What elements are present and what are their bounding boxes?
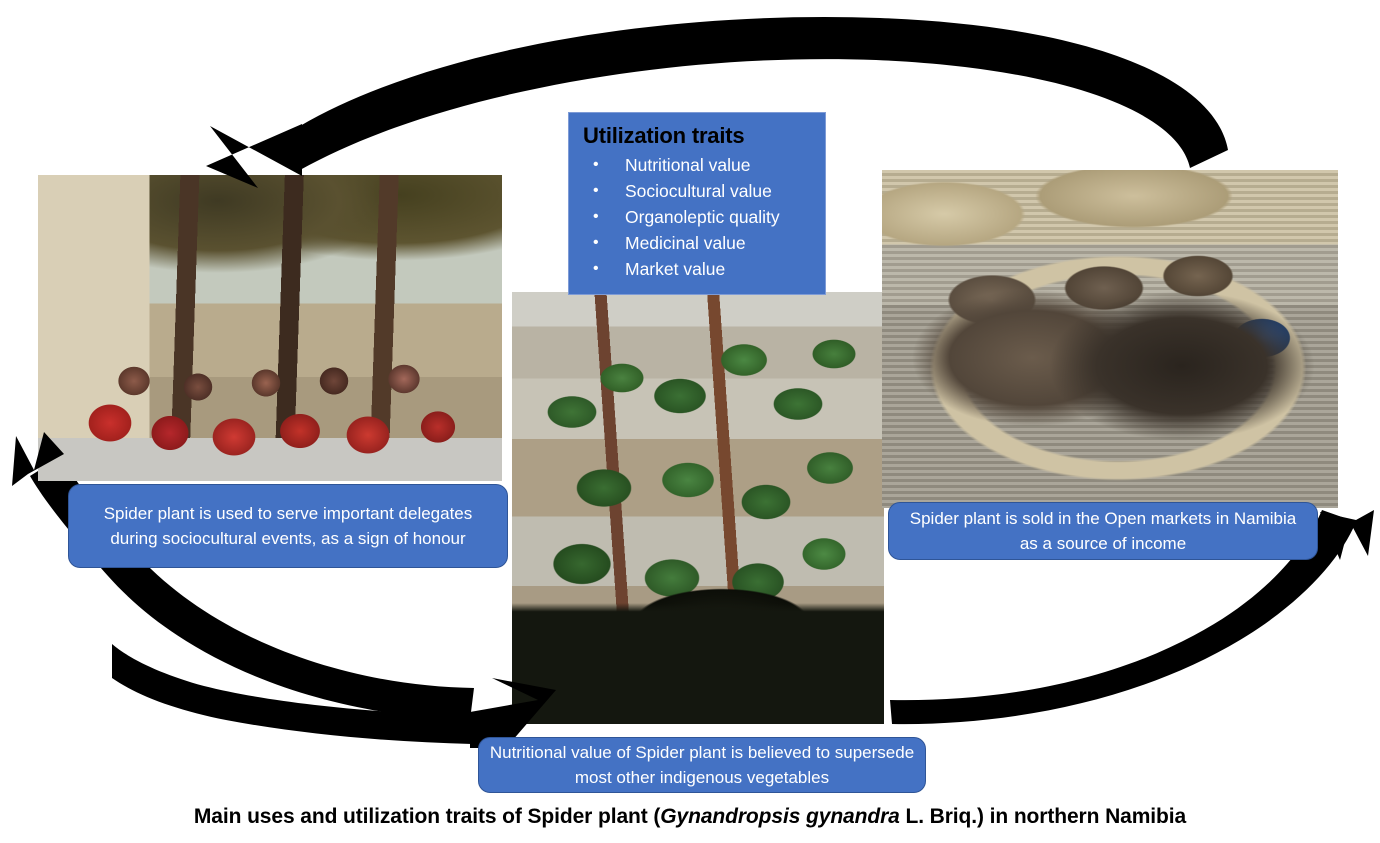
figure-root: Utilization traits • Nutritional value •… [0, 0, 1380, 843]
arrow-layer-front [0, 0, 1380, 843]
caption-box-market: Spider plant is sold in the Open markets… [888, 502, 1318, 560]
caption-box-nutrition: Nutritional value of Spider plant is bel… [478, 737, 926, 793]
figure-caption: Main uses and utilization traits of Spid… [0, 805, 1380, 829]
figure-caption-prefix: Main uses and utilization traits of Spid… [194, 805, 660, 828]
arrow-nutrition-to-gathering-head [12, 432, 64, 486]
caption-box-sociocultural: Spider plant is used to serve important … [68, 484, 508, 568]
caption-text: Nutritional value of Spider plant is bel… [489, 740, 915, 790]
figure-caption-species: Gynandropsis gynandra [660, 805, 899, 828]
caption-text: Spider plant is used to serve important … [79, 501, 497, 551]
arrow-nutrition-to-market-head [1320, 510, 1374, 560]
caption-text: Spider plant is sold in the Open markets… [899, 506, 1307, 556]
arrow-market-to-gathering-head [206, 124, 302, 188]
figure-caption-suffix: L. Briq.) in northern Namibia [900, 805, 1186, 828]
